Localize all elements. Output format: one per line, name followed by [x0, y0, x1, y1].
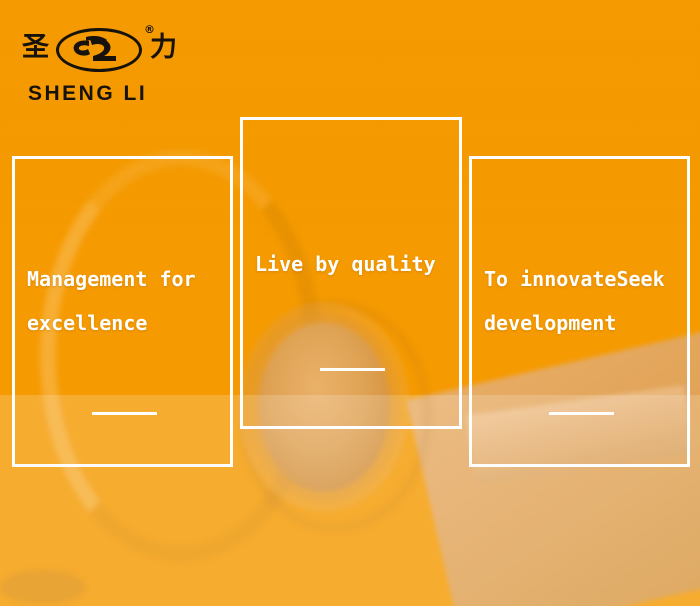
sl-monogram-icon — [66, 35, 132, 65]
slogan-text: Live by quality — [255, 242, 451, 286]
slogan-underline — [320, 368, 385, 371]
logo-char-sheng: 圣 — [22, 32, 49, 64]
logo-wordmark: SHENG LI — [28, 82, 147, 106]
logo[interactable]: 圣 ® 力 SHENG LI — [22, 24, 182, 108]
slogan-underline — [92, 412, 157, 415]
logo-mark: 圣 ® 力 — [22, 24, 182, 80]
slogan-text: To innovateSeek development — [484, 257, 679, 345]
logo-char-li: 力 — [150, 32, 177, 64]
slogan-card-quality[interactable]: Live by quality — [240, 117, 462, 429]
slogan-text: Management for excellence — [27, 257, 222, 345]
promo-banner: 圣 ® 力 SHENG LI Management for excellence… — [0, 0, 700, 606]
slogan-card-innovation[interactable]: To innovateSeek development — [469, 156, 690, 467]
slogan-card-management[interactable]: Management for excellence — [12, 156, 233, 467]
slogan-underline — [549, 412, 614, 415]
